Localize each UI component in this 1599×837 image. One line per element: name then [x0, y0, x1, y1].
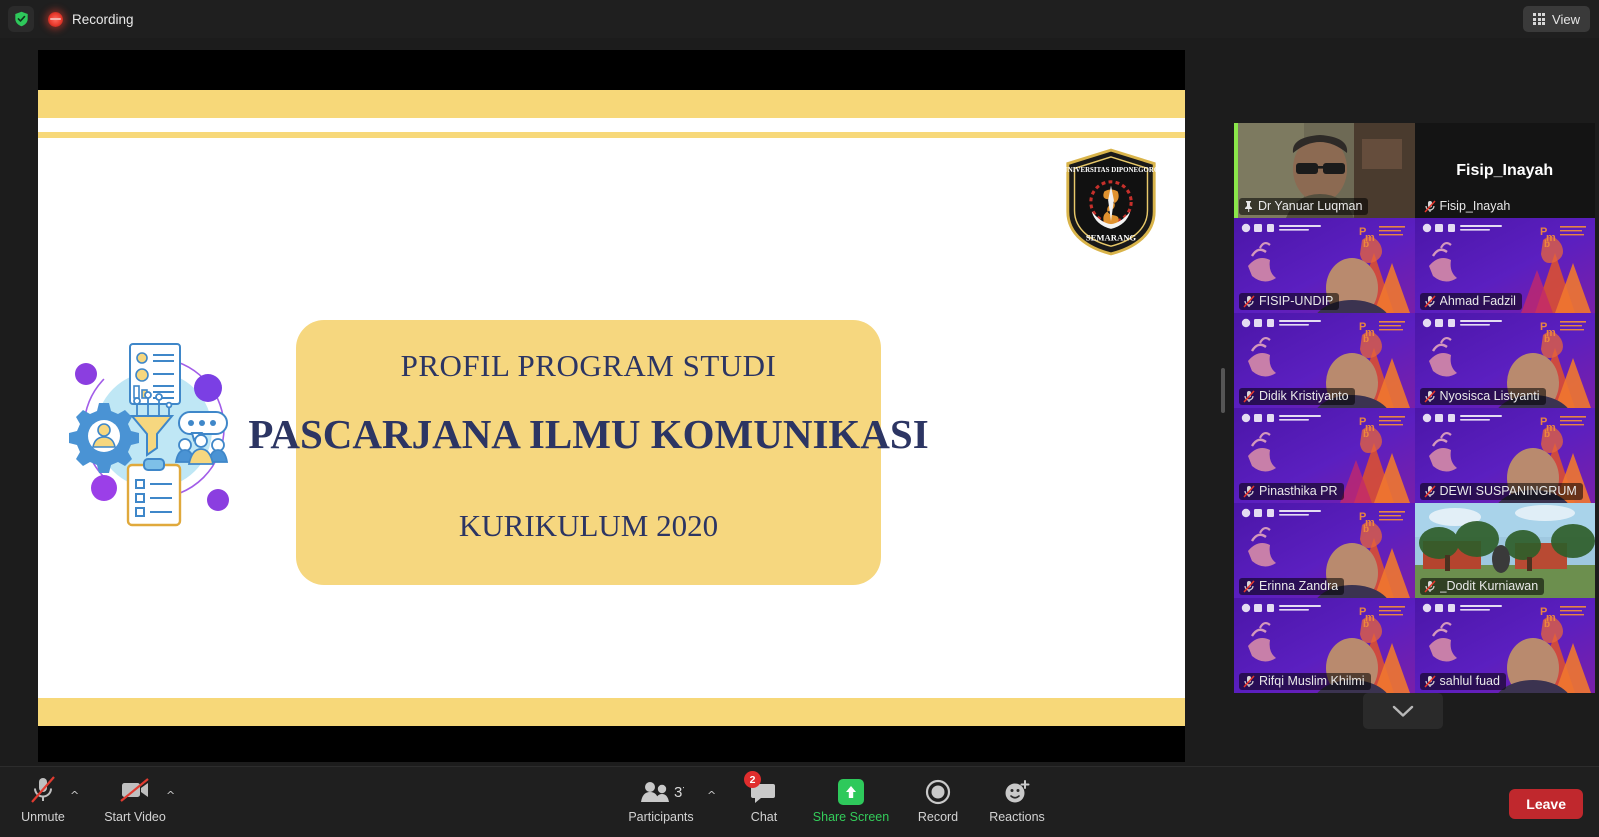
slide-white-gap — [38, 118, 1185, 132]
participant-name: Didik Kristiyanto — [1259, 389, 1349, 403]
muted-mic-icon — [1424, 580, 1436, 593]
participant-tile-grid: Dr Yanuar Luqman Fisip_Inayah Fisip_Inay… — [1234, 123, 1595, 693]
participant-tile[interactable]: _Dodit Kurniawan — [1415, 503, 1596, 598]
muted-mic-icon — [1424, 390, 1436, 403]
participant-name: Rifqi Muslim Khilmi — [1259, 674, 1365, 688]
participant-name-bar: Pinasthika PR — [1239, 483, 1344, 500]
gallery-scroll-down-button[interactable] — [1363, 693, 1443, 729]
video-options-chevron-icon[interactable]: ^ — [166, 789, 175, 802]
reactions-smiley-icon — [1003, 775, 1031, 805]
muted-mic-icon — [1243, 485, 1255, 498]
slide-title-line-1: PROFIL PROGRAM STUDI — [401, 348, 777, 384]
participant-tile[interactable]: P m b Rifqi Muslim Khilmi — [1234, 598, 1415, 693]
recording-indicator[interactable]: Recording — [48, 12, 134, 27]
record-button[interactable]: Record — [895, 775, 981, 824]
muted-mic-icon — [1243, 675, 1255, 688]
slide-bottom-band — [38, 698, 1185, 726]
muted-mic-icon — [1243, 580, 1255, 593]
participant-name-bar: Rifqi Muslim Khilmi — [1239, 673, 1371, 690]
participant-name: Dr Yanuar Luqman — [1258, 199, 1362, 213]
program-process-illustration — [58, 328, 248, 528]
participant-name-bar: Fisip_Inayah — [1420, 198, 1517, 215]
muted-mic-icon — [1243, 390, 1255, 403]
participant-tile[interactable]: P m b FISIP-UNDIP — [1234, 218, 1415, 313]
gallery-row: P m b Pinasthika PR — [1234, 408, 1595, 503]
svg-text:SEMARANG: SEMARANG — [1086, 232, 1137, 242]
participant-name-bar: DEWI SUSPANINGRUM — [1420, 483, 1583, 500]
svg-text:b: b — [1544, 334, 1550, 345]
meeting-top-bar: Recording View — [0, 0, 1599, 38]
svg-text:37: 37 — [674, 784, 684, 801]
participant-tile[interactable]: P m b DEWI SUSPANINGRUM — [1415, 408, 1596, 503]
svg-text:b: b — [1544, 619, 1550, 630]
svg-text:b: b — [1363, 524, 1369, 535]
reactions-button[interactable]: Reactions — [974, 775, 1060, 824]
leave-button[interactable]: Leave — [1509, 789, 1583, 819]
participant-tile[interactable]: P m b sahlul fuad — [1415, 598, 1596, 693]
participants-label: Participants — [628, 810, 693, 824]
record-circle-icon — [925, 775, 951, 805]
mic-muted-icon — [29, 775, 57, 805]
chat-unread-badge: 2 — [744, 771, 761, 788]
slide-top-band — [38, 90, 1185, 118]
chat-label: Chat — [751, 810, 777, 824]
reactions-label: Reactions — [989, 810, 1045, 824]
muted-mic-icon — [1243, 295, 1255, 308]
participant-name-bar: Erinna Zandra — [1239, 578, 1344, 595]
share-screen-button[interactable]: Share Screen — [808, 775, 894, 824]
participant-tile[interactable]: P m b Nyosisca Listyanti — [1415, 313, 1596, 408]
meeting-controls-toolbar: Unmute ^ Start Video ^ 37 — [0, 766, 1599, 837]
svg-text:b: b — [1363, 429, 1369, 440]
participant-name: Nyosisca Listyanti — [1440, 389, 1540, 403]
muted-mic-icon — [1424, 295, 1436, 308]
slide-title-card: PROFIL PROGRAM STUDI PASCARJANA ILMU KOM… — [296, 320, 881, 585]
participant-name: Erinna Zandra — [1259, 579, 1338, 593]
participants-chevron-icon[interactable]: ^ — [707, 789, 716, 802]
recording-dot-icon — [48, 12, 63, 27]
shield-check-icon[interactable] — [8, 6, 34, 32]
participant-name: Ahmad Fadzil — [1440, 294, 1516, 308]
slide-title-line-3: KURIKULUM 2020 — [459, 508, 718, 544]
svg-text:UNIVERSITAS DIPONEGORO: UNIVERSITAS DIPONEGORO — [1063, 167, 1159, 174]
recording-label: Recording — [72, 12, 134, 27]
participant-name-bar: Nyosisca Listyanti — [1420, 388, 1546, 405]
chat-bubble-icon: 2 — [751, 775, 777, 805]
shared-screen-area[interactable]: UNIVERSITAS DIPONEGORO SEMARANG — [0, 38, 1222, 766]
gallery-row: P m b Didik Kristiyanto — [1234, 313, 1595, 408]
gallery-row: P m b Erinna Zandra — [1234, 503, 1595, 598]
svg-text:b: b — [1363, 239, 1369, 250]
gallery-row: P m b FISIP-UNDIP — [1234, 218, 1595, 313]
chat-button[interactable]: 2 Chat — [721, 775, 807, 824]
universitas-diponegoro-logo: UNIVERSITAS DIPONEGORO SEMARANG — [1063, 148, 1159, 256]
share-screen-label: Share Screen — [813, 810, 889, 824]
participant-tile[interactable]: Dr Yanuar Luqman — [1234, 123, 1415, 218]
participants-icon: 37 — [638, 775, 684, 805]
participant-tile[interactable]: P m b Ahmad Fadzil — [1415, 218, 1596, 313]
participant-name: FISIP-UNDIP — [1259, 294, 1333, 308]
participants-button[interactable]: 37 Participants — [618, 775, 704, 824]
panel-divider[interactable] — [1216, 38, 1230, 766]
participant-name-bar: _Dodit Kurniawan — [1420, 578, 1545, 595]
muted-mic-icon — [1424, 200, 1436, 213]
gallery-row: P m b Rifqi Muslim Khilmi — [1234, 598, 1595, 693]
participant-name-bar: FISIP-UNDIP — [1239, 293, 1339, 310]
muted-mic-icon — [1424, 485, 1436, 498]
divider-grip-handle[interactable] — [1221, 368, 1225, 413]
participant-name: DEWI SUSPANINGRUM — [1440, 484, 1577, 498]
pin-icon — [1243, 200, 1254, 212]
svg-text:b: b — [1363, 619, 1369, 630]
participant-gallery-strip: Dr Yanuar Luqman Fisip_Inayah Fisip_Inay… — [1230, 38, 1599, 766]
presentation-slide: UNIVERSITAS DIPONEGORO SEMARANG — [38, 50, 1185, 762]
zoom-meeting-window: Recording View UNIVERSITAS DIPONEGORO — [0, 0, 1599, 837]
participant-name-bar: sahlul fuad — [1420, 673, 1506, 690]
slide-title-line-2: PASCARJANA ILMU KOMUNIKASI — [248, 410, 928, 458]
muted-mic-icon — [1424, 675, 1436, 688]
svg-text:b: b — [1544, 429, 1550, 440]
record-label: Record — [918, 810, 958, 824]
chevron-down-icon — [1392, 705, 1414, 718]
participant-name: Fisip_Inayah — [1440, 199, 1511, 213]
view-button[interactable]: View — [1523, 6, 1590, 32]
participant-name: sahlul fuad — [1440, 674, 1500, 688]
svg-text:b: b — [1363, 334, 1369, 345]
svg-text:b: b — [1544, 239, 1550, 250]
participant-name: Pinasthika PR — [1259, 484, 1338, 498]
grid-view-icon — [1533, 13, 1545, 25]
audio-options-chevron-icon[interactable]: ^ — [70, 789, 79, 802]
participant-tile[interactable]: P m b Pinasthika PR — [1234, 408, 1415, 503]
participant-name: _Dodit Kurniawan — [1440, 579, 1539, 593]
participant-name-bar: Didik Kristiyanto — [1239, 388, 1355, 405]
view-button-label: View — [1552, 12, 1580, 27]
participant-name-bar: Dr Yanuar Luqman — [1239, 198, 1368, 215]
participant-tile[interactable]: Fisip_Inayah Fisip_Inayah — [1415, 123, 1596, 218]
participant-tile[interactable]: P m b Didik Kristiyanto — [1234, 313, 1415, 408]
slide-body: UNIVERSITAS DIPONEGORO SEMARANG — [38, 138, 1185, 698]
unmute-label: Unmute — [21, 810, 65, 824]
start-video-label: Start Video — [104, 810, 166, 824]
participant-tile[interactable]: P m b Erinna Zandra — [1234, 503, 1415, 598]
video-off-icon — [119, 775, 151, 805]
participant-name-bar: Ahmad Fadzil — [1420, 293, 1522, 310]
gallery-row: Dr Yanuar Luqman Fisip_Inayah Fisip_Inay… — [1234, 123, 1595, 218]
share-screen-icon — [838, 775, 864, 805]
